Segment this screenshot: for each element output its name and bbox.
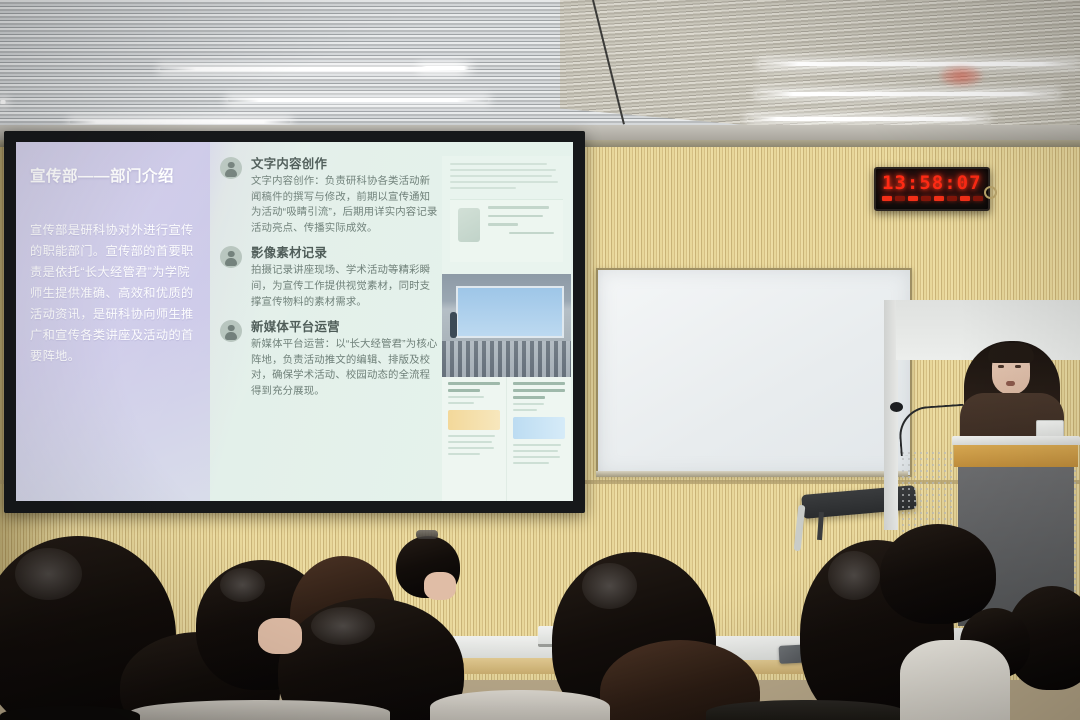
slide-intro-paragraph: 宣传部是研科协对外进行宣传的职能部门。宣传部的首要职责是依托“长大经管君”为学院… [30, 220, 194, 367]
certificate-text-lines [488, 206, 557, 240]
slide-left-panel: 宣传部——部门介绍 宣传部是研科协对外进行宣传的职能部门。宣传部的首要职责是依托… [16, 142, 210, 501]
ceiling-light-4 [70, 120, 290, 124]
slide-image-collage [442, 156, 571, 501]
collage-article-screenshot [442, 156, 571, 274]
slide-right-panel: 文字内容创作 文字内容创作：负责研科协各类活动新闻稿件的撰写与修改，前期以宣传通… [210, 142, 573, 501]
ceiling-light-1 [160, 67, 460, 71]
collage-notice-left [442, 377, 506, 501]
lecture-hall-photo: 13:58:07 宣传部——部门介绍 宣传部是研科协对外进行宣传的职能部门。宣传… [0, 0, 1080, 720]
presentation-slide: 宣传部——部门介绍 宣传部是研科协对外进行宣传的职能部门。宣传部的首要职责是依托… [16, 142, 573, 501]
collage-notice-right [506, 377, 571, 501]
slide-points-list: 文字内容创作 文字内容创作：负责研科协各类活动新闻稿件的撰写与修改，前期以宣传通… [220, 156, 438, 501]
slide-point-2-text: 拍摄记录讲座现场、学术活动等精彩瞬间，为宣传工作提供视觉素材，同时支撑宣传物料的… [251, 263, 438, 310]
collage-photo-screen [456, 286, 564, 338]
presenter-fringe [988, 343, 1034, 363]
slide-title: 宣传部——部门介绍 [30, 164, 194, 186]
presenter-mouth [1006, 381, 1015, 386]
collage-banner-blue [513, 417, 565, 439]
slide-point-1-heading: 文字内容创作 [251, 156, 438, 173]
clock-mount-bracket [984, 186, 997, 199]
slide-point-2-heading: 影像素材记录 [251, 245, 438, 262]
audience-shoulder-1 [130, 700, 390, 720]
collage-certificate-image [450, 199, 563, 262]
audience-head-10 [880, 524, 996, 624]
presenter-eye-right [1015, 365, 1021, 368]
audience-neck-1 [258, 618, 302, 654]
presenter-eye-left [998, 365, 1004, 368]
slide-point-3-text: 新媒体平台运营：以“长大经管君”为核心阵地，负责活动推文的编辑、排版及校对，确保… [251, 337, 438, 399]
collage-photo-speaker [450, 312, 457, 338]
ceiling-light-5 [760, 62, 1080, 66]
lectern-top [952, 436, 1080, 445]
ceiling-red-reflection [940, 66, 982, 86]
ceiling-light-2 [420, 66, 470, 70]
slide-point-1-text: 文字内容创作：负责研科协各类活动新闻稿件的撰写与修改，前期以宣传通知为活动“吸睛… [251, 174, 438, 236]
whiteboard-tray [596, 471, 908, 477]
slide-point-3-heading: 新媒体平台运营 [251, 319, 438, 336]
lectern-wood-trim [954, 445, 1078, 467]
clock-time-display: 13:58:07 [882, 172, 982, 194]
hair-clip [416, 530, 438, 539]
microphone-capsule [890, 402, 903, 412]
ceiling-light-3 [228, 98, 488, 102]
projection-screen: 宣传部——部门介绍 宣传部是研科协对外进行宣传的职能部门。宣传部的首要职责是依托… [16, 142, 573, 501]
collage-banner-yellow [448, 410, 500, 430]
certificate-seal [458, 208, 480, 242]
collage-photo-audience [442, 341, 571, 377]
audience-shoulder-4 [900, 640, 1010, 720]
user-circle-icon [220, 157, 242, 179]
audience-neck-2 [424, 572, 456, 600]
slide-point-3: 新媒体平台运营 新媒体平台运营：以“长大经管君”为核心阵地，负责活动推文的编辑、… [220, 319, 438, 399]
ceiling-light-8 [0, 100, 6, 104]
user-circle-icon [220, 246, 242, 268]
whiteboard [596, 268, 912, 477]
projection-screen-frame: 宣传部——部门介绍 宣传部是研科协对外进行宣传的职能部门。宣传部的首要职责是依托… [4, 131, 585, 513]
slide-point-2: 影像素材记录 拍摄记录讲座现场、学术活动等精彩瞬间，为宣传工作提供视觉素材，同时… [220, 245, 438, 310]
led-wall-clock: 13:58:07 [874, 167, 990, 211]
audience-shoulder-2 [430, 690, 610, 720]
slide-point-1: 文字内容创作 文字内容创作：负责研科协各类活动新闻稿件的撰写与修改，前期以宣传通… [220, 156, 438, 236]
collage-notice-cards [442, 377, 571, 501]
collage-lecture-photo [442, 274, 571, 377]
audience-shoulder-5 [0, 706, 140, 720]
ceiling-light-7 [748, 117, 988, 121]
user-circle-icon [220, 320, 242, 342]
audience-shoulder-3 [706, 700, 906, 720]
clock-indicator-row [882, 194, 983, 202]
ceiling-light-6 [757, 92, 1057, 96]
